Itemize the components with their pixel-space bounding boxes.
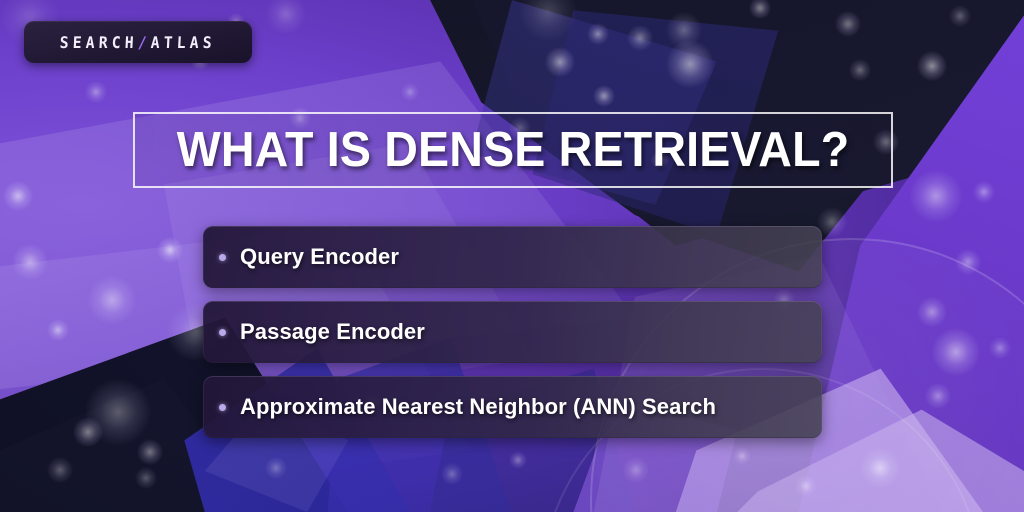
bokeh-dot (627, 25, 653, 51)
bokeh-dot (666, 12, 701, 47)
bullet-card-label: Query Encoder (240, 244, 399, 270)
bokeh-dot (593, 85, 615, 107)
bokeh-dot (85, 81, 107, 103)
bullet-dot-icon (219, 254, 226, 261)
bullet-dot-icon (219, 329, 226, 336)
bokeh-dot (835, 11, 861, 37)
bokeh-dot (12, 244, 47, 279)
bokeh-dot (545, 47, 576, 78)
bokeh-dot (88, 276, 136, 324)
bokeh-dot (85, 379, 151, 445)
bokeh-dot (3, 181, 34, 212)
bokeh-dot (73, 417, 104, 448)
slide-canvas: SEARCH/ATLAS WHAT IS DENSE RETRIEVAL? Qu… (0, 0, 1024, 512)
bullet-card-ann-search[interactable]: Approximate Nearest Neighbor (ANN) Searc… (203, 376, 822, 438)
bokeh-dot (973, 181, 995, 203)
bokeh-dot (47, 319, 69, 341)
bokeh-dot (917, 51, 948, 82)
brand-logo-word-atlas: ATLAS (151, 33, 217, 52)
page-title: WHAT IS DENSE RETRIEVAL? (177, 122, 850, 178)
bullet-card-label: Approximate Nearest Neighbor (ANN) Searc… (240, 394, 716, 420)
page-title-box: WHAT IS DENSE RETRIEVAL? (133, 112, 893, 188)
bokeh-dot (949, 5, 971, 27)
bokeh-dot (910, 170, 963, 223)
bokeh-dot (441, 463, 463, 485)
bokeh-dot (666, 40, 714, 88)
bokeh-dot (849, 59, 871, 81)
bokeh-dot (587, 23, 609, 45)
brand-logo-text: SEARCH/ATLAS (60, 33, 217, 52)
bullet-card-passage-encoder[interactable]: Passage Encoder (203, 301, 822, 363)
bullet-dot-icon (219, 404, 226, 411)
bokeh-dot (47, 457, 73, 483)
bokeh-dot (509, 451, 527, 469)
brand-logo-slash: / (138, 33, 152, 52)
brand-logo-word-search: SEARCH (60, 33, 139, 52)
brand-logo-badge[interactable]: SEARCH/ATLAS (24, 21, 252, 63)
bokeh-dot (137, 439, 163, 465)
bokeh-dot (265, 457, 287, 479)
bokeh-dot (266, 0, 306, 34)
bokeh-dot (157, 237, 183, 263)
bokeh-dot (519, 0, 576, 41)
bullet-card-label: Passage Encoder (240, 319, 425, 345)
bullet-card-list: Query Encoder Passage Encoder Approximat… (203, 226, 822, 451)
bokeh-dot (749, 0, 771, 19)
bullet-card-query-encoder[interactable]: Query Encoder (203, 226, 822, 288)
bokeh-dot (401, 83, 419, 101)
bokeh-dot (135, 467, 157, 489)
